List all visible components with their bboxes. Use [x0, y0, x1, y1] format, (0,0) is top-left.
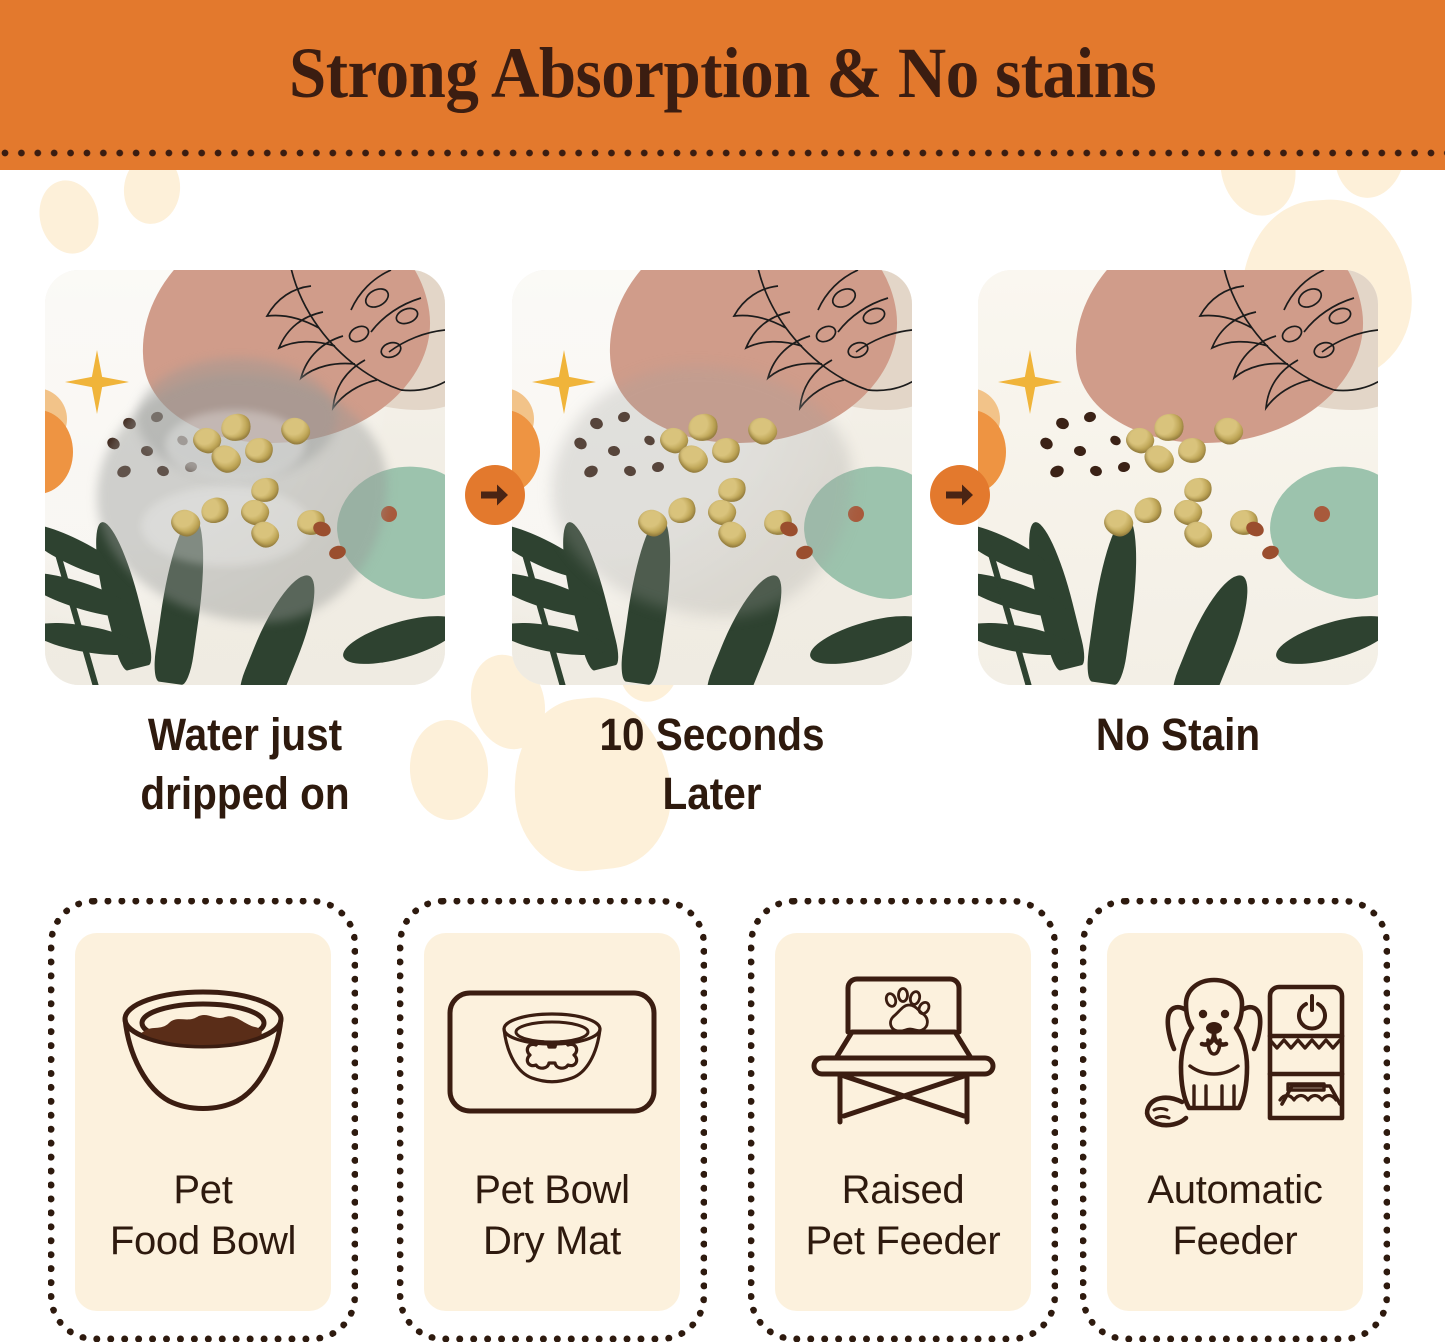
- arrow-right-glyph: [477, 477, 513, 513]
- arrow-right-icon: [930, 465, 990, 525]
- demo-photo-dry: [978, 270, 1378, 685]
- dog-icon: [1147, 980, 1260, 1125]
- feature-card-label: Automatic Feeder: [1147, 1165, 1322, 1267]
- demo-caption: Water just dripped on: [65, 705, 425, 824]
- absorption-demo-row: [0, 270, 1445, 685]
- paw-print-icon: [884, 988, 930, 1031]
- demo-photo-damp: [512, 270, 912, 685]
- feature-card-label: Pet Bowl Dry Mat: [474, 1165, 629, 1267]
- feature-card-label: Pet Food Bowl: [110, 1165, 296, 1267]
- feature-card-automatic-feeder[interactable]: Automatic Feeder: [1080, 898, 1390, 1342]
- arrow-right-glyph: [942, 477, 978, 513]
- feature-cards-row: Pet Food Bowl Pet Bowl Dry Mat: [0, 898, 1445, 1342]
- feature-card-raised-pet-feeder[interactable]: Raised Pet Feeder: [748, 898, 1058, 1342]
- pet-food-bowl-icon: [75, 949, 331, 1155]
- header-banner: Strong Absorption & No stains: [0, 0, 1445, 170]
- feature-card-label: Raised Pet Feeder: [806, 1165, 1001, 1267]
- automatic-feeder-icon: [1107, 949, 1363, 1155]
- dotted-divider: [0, 147, 1445, 161]
- power-button-icon: [1299, 996, 1325, 1029]
- feature-card-pet-food-bowl[interactable]: Pet Food Bowl: [48, 898, 358, 1342]
- demo-photo-wet: [45, 270, 445, 685]
- feeder-machine-icon: [1270, 987, 1342, 1118]
- demo-caption: No Stain: [998, 705, 1358, 764]
- raised-pet-feeder-icon: [775, 949, 1031, 1155]
- feature-card-pet-bowl-dry-mat[interactable]: Pet Bowl Dry Mat: [397, 898, 707, 1342]
- demo-caption: 10 Seconds Later: [532, 705, 892, 824]
- page-title: Strong Absorption & No stains: [51, 32, 1395, 115]
- monstera-leaf-icon: [1164, 270, 1378, 440]
- arrow-right-icon: [465, 465, 525, 525]
- pet-bowl-dry-mat-icon: [424, 949, 680, 1155]
